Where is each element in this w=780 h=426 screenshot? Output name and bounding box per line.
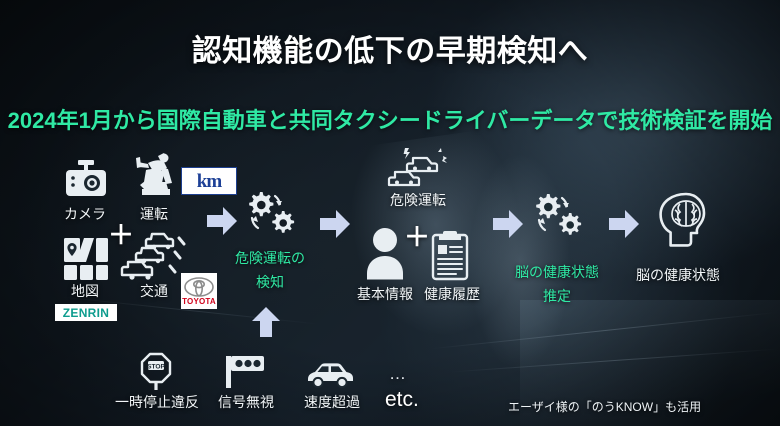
background-streak-1 [431,312,779,350]
estimation-label-line2: 推定 [494,286,620,306]
zenrin-logo: ZENRIN [55,304,117,321]
violation-label-signal: 信号無視 [202,392,290,412]
person-icon [363,225,407,286]
gears-icon-estimation [525,190,589,251]
slide-canvas: 認知機能の低下の早期検知へ 2024年1月から国際自動車と共同タクシードライバー… [0,0,780,426]
input-label-map: 地図 [46,281,124,301]
violation-label-stop: 一時停止違反 [98,392,216,412]
driving-icon [124,152,182,209]
estimation-label-line1: 脳の健康状態 [494,262,620,282]
arrow-right-icon-4 [607,208,641,245]
violation-ellipsis: … [389,364,408,384]
page-subtitle: 2024年1月から国際自動車と共同タクシードライバーデータで技術検証を開始 [0,103,780,135]
brain-health-label: 脳の健康状態 [618,265,738,285]
arrow-up-icon [250,305,282,344]
km-logo-text: km [197,172,221,191]
traffic-light-icon [224,354,266,395]
arrow-right-icon-2 [318,208,352,245]
toyota-logo: TOYOTA [181,273,217,309]
toyota-emblem-icon [184,277,214,297]
arrow-right-icon-1 [205,205,239,242]
car-icon [304,358,356,395]
arrow-right-icon-3 [491,208,525,245]
km-logo: km [181,167,237,195]
stop-sign-icon: STOP [138,350,174,395]
clipboard-icon [428,228,472,287]
plus-sign-stage3: ＋ [404,224,430,250]
zenrin-logo-text: ZENRIN [63,307,109,319]
gears-icon-detection [238,188,302,249]
dangerous-driving-label: 危険運転 [378,190,458,210]
svg-text:STOP: STOP [147,363,165,370]
violation-label-speed: 速度超過 [292,392,372,412]
detection-label-line2: 検知 [218,272,322,292]
footnote-text: エーザイ様の「のうKNOW」も活用 [508,398,701,415]
page-title: 認知機能の低下の早期検知へ [0,26,780,70]
toyota-logo-text: TOYOTA [182,298,216,306]
background-streak-2 [450,348,779,372]
violation-etc-label: etc. [385,388,419,412]
brain-head-icon [648,190,706,257]
health-history-label: 健康履歴 [412,284,492,304]
detection-label-line1: 危険運転の [218,248,322,268]
